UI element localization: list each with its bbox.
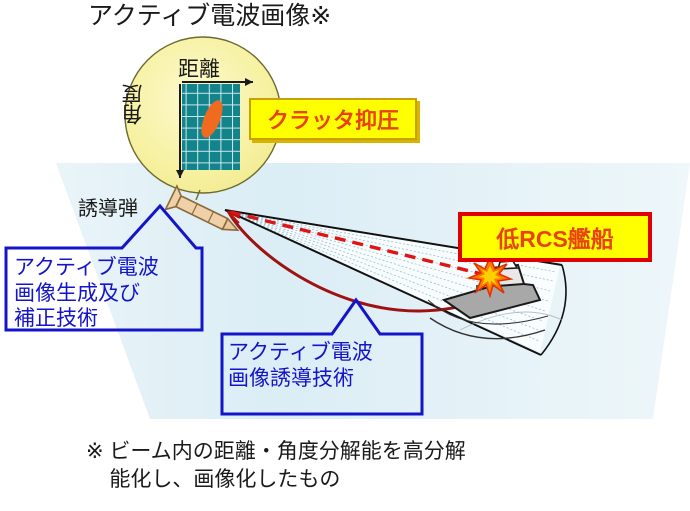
callout-middle-label: アクティブ電波 画像誘導技術: [228, 340, 373, 391]
diagram-root: アクティブ電波画像※ 距離 角度 クラッタ抑圧 低RCS艦船 誘導弾 アクティブ…: [0, 0, 690, 511]
axis-label-range: 距離: [178, 53, 220, 83]
axis-label-angle: 角度: [119, 85, 149, 125]
footnote-text: ※ ビーム内の距離・角度分解能を高分解 能化し、画像化したもの: [86, 438, 466, 495]
low-rcs-ship-banner[interactable]: 低RCS艦船: [458, 212, 652, 262]
clutter-suppression-banner[interactable]: クラッタ抑圧: [249, 98, 417, 140]
clutter-suppression-label: クラッタ抑圧: [267, 103, 399, 135]
page-title: アクティブ電波画像※: [88, 2, 331, 31]
low-rcs-ship-label: 低RCS艦船: [496, 220, 614, 254]
callout-left-label: アクティブ電波 画像生成及び 補正技術: [14, 255, 159, 332]
guided-missile-label: 誘導弾: [78, 198, 138, 221]
